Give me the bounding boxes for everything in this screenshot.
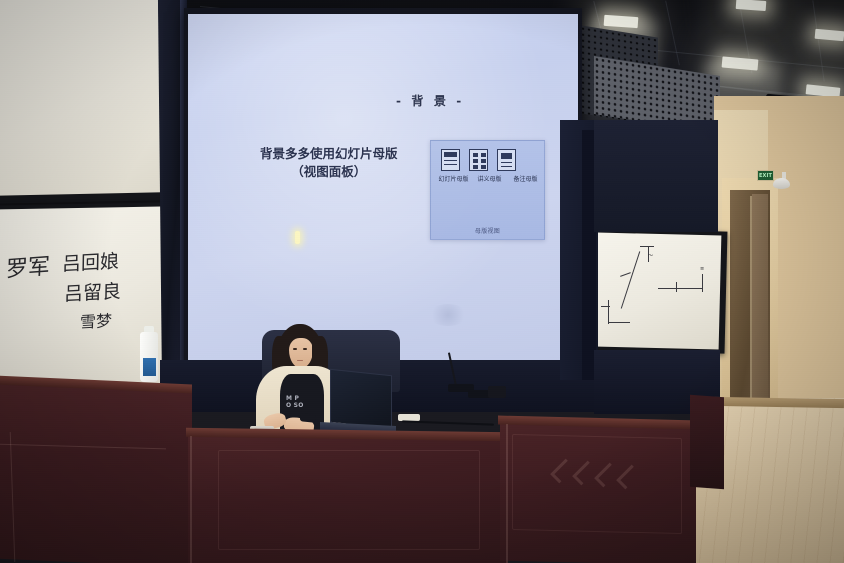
wall-upper-right bbox=[594, 120, 718, 232]
diagram-note: 〜 bbox=[648, 252, 653, 259]
wrist-band bbox=[300, 413, 317, 423]
handout-master-icon[interactable] bbox=[469, 149, 488, 171]
diagram-note: ≡ bbox=[700, 266, 704, 272]
diagram-stroke bbox=[676, 282, 677, 292]
slide-master-icon[interactable] bbox=[441, 149, 460, 171]
podium-left bbox=[0, 380, 192, 563]
door-edge bbox=[750, 196, 752, 404]
master-icon-row bbox=[441, 149, 516, 171]
diagram-stroke bbox=[601, 306, 610, 307]
laser-pointer-dot bbox=[295, 231, 300, 244]
notes-master-icon[interactable] bbox=[497, 149, 516, 171]
presenter-eye-right bbox=[303, 348, 307, 350]
master-label-row: 幻灯片母版 讲义母版 备注母版 bbox=[437, 174, 542, 183]
slide-title: - 背 景 - bbox=[396, 92, 464, 109]
master-label-handout: 讲义母版 bbox=[473, 174, 506, 183]
master-label-slide: 幻灯片母版 bbox=[437, 174, 470, 183]
master-panel-footer: 母版视图 bbox=[431, 226, 544, 235]
desk-item-box bbox=[488, 386, 506, 398]
slide-body: 背景多多使用幻灯片母版 （视图面板） bbox=[260, 145, 398, 181]
whiteboard-ink-2: 吕回娘 bbox=[62, 246, 119, 276]
screen-smudge bbox=[428, 304, 468, 326]
podium-seam bbox=[506, 424, 508, 563]
diagram-stroke bbox=[608, 300, 609, 324]
master-label-notes: 备注母版 bbox=[509, 174, 542, 183]
ceiling-light bbox=[604, 15, 639, 28]
slide-body-line-2: （视图面板） bbox=[260, 163, 398, 181]
laptop-screen[interactable] bbox=[330, 369, 392, 430]
bottle-label bbox=[143, 358, 156, 376]
slide-body-line-1: 背景多多使用幻灯片母版 bbox=[260, 145, 398, 163]
podium-seam bbox=[190, 436, 192, 563]
door-leaf[interactable] bbox=[752, 194, 768, 406]
podium-far-right bbox=[690, 395, 724, 489]
lecture-hall-photo: EXIT 罗军 吕回娘 吕留良 雪梦 - 背 景 - 背景多多使用幻灯片母版 （… bbox=[0, 0, 844, 563]
shirt-print-line-2: O SO bbox=[286, 403, 304, 410]
diagram-stroke bbox=[658, 288, 702, 289]
whiteboard-ink-1: 罗军 bbox=[5, 248, 50, 283]
diagram-stroke bbox=[608, 322, 630, 323]
exit-sign: EXIT bbox=[757, 170, 774, 181]
whiteboard-ink-4: 雪梦 bbox=[80, 307, 113, 333]
exit-sign-label: EXIT bbox=[759, 173, 772, 179]
podium-right-panel bbox=[512, 434, 682, 534]
security-camera-icon bbox=[773, 178, 790, 189]
cable bbox=[402, 420, 494, 425]
podium-center-panel bbox=[218, 450, 480, 550]
shirt-print: M P O SO bbox=[286, 396, 304, 409]
diagram-stroke bbox=[640, 246, 654, 247]
whiteboard-ink-3: 吕留良 bbox=[64, 276, 121, 306]
master-view-panel[interactable]: 幻灯片母版 讲义母版 备注母版 母版视图 bbox=[430, 140, 545, 240]
diagram-stroke bbox=[702, 274, 703, 292]
presenter-eye-left bbox=[293, 348, 297, 350]
whiteboard-surface-top-left bbox=[0, 0, 162, 196]
